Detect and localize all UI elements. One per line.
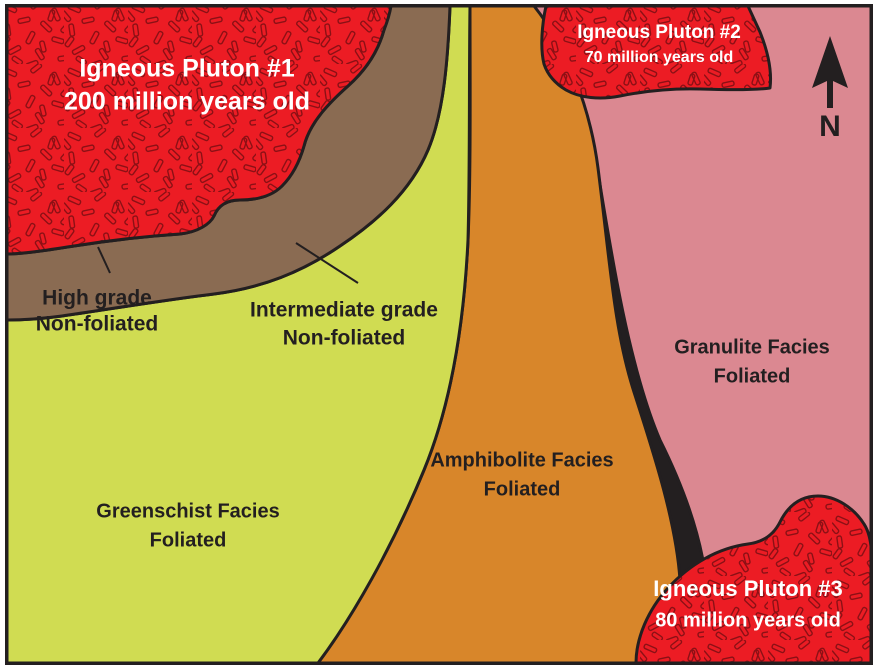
high-grade-sub: Non-foliated: [36, 313, 158, 336]
intermediate-grade-name: Intermediate grade: [250, 299, 438, 322]
pluton-3-name: Igneous Pluton #3: [653, 576, 842, 601]
pluton-2-name: Igneous Pluton #2: [577, 22, 741, 43]
pluton-3-age: 80 million years old: [655, 609, 841, 631]
pluton-2-age: 70 million years old: [585, 49, 734, 66]
granulite-sub: Foliated: [714, 365, 791, 387]
map-body: Igneous Pluton #1 200 million years old …: [7, 6, 871, 663]
intermediate-grade-sub: Non-foliated: [283, 327, 405, 350]
high-grade-name: High grade: [42, 287, 152, 310]
pluton-1-name: Igneous Pluton #1: [79, 55, 294, 83]
map-canvas: Igneous Pluton #1 200 million years old …: [0, 0, 878, 669]
geologic-map: Igneous Pluton #1 200 million years old …: [0, 0, 878, 669]
pluton-1-age: 200 million years old: [64, 88, 310, 116]
amphibolite-name: Amphibolite Facies: [430, 449, 613, 471]
amphibolite-sub: Foliated: [484, 478, 561, 500]
greenschist-sub: Foliated: [150, 529, 227, 551]
greenschist-name: Greenschist Facies: [96, 500, 279, 522]
granulite-name: Granulite Facies: [674, 336, 830, 358]
north-arrow-label: N: [819, 110, 841, 143]
